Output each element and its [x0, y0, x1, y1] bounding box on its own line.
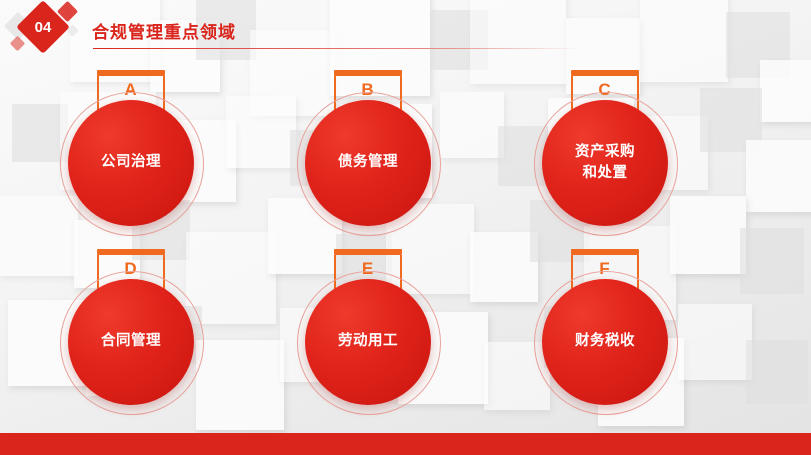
slide-canvas: 04 合规管理重点领域 A 公司治理 B 债务管理 C 资产采购 和处置 [0, 0, 811, 455]
topic-circle[interactable]: 公司治理 [68, 100, 194, 226]
topic-item-a[interactable]: A 公司治理 [46, 70, 216, 260]
topic-item-c[interactable]: C 资产采购 和处置 [520, 70, 690, 260]
topic-item-f[interactable]: F 财务税收 [520, 249, 690, 439]
topic-circle[interactable]: 资产采购 和处置 [542, 100, 668, 226]
topic-label: 资产采购 和处置 [575, 142, 635, 184]
section-number-text: 04 [24, 8, 62, 46]
footer-bar [0, 433, 811, 455]
topic-label: 合同管理 [101, 331, 161, 352]
topic-item-e[interactable]: E 劳动用工 [283, 249, 453, 439]
lamp-cap-icon [334, 249, 402, 255]
lamp-cap-icon [97, 249, 165, 255]
topic-label: 公司治理 [101, 152, 161, 173]
topic-circle[interactable]: 债务管理 [305, 100, 431, 226]
topic-label: 债务管理 [338, 152, 398, 173]
topic-circle[interactable]: 财务税收 [542, 279, 668, 405]
topic-label: 财务税收 [575, 331, 635, 352]
topic-label: 劳动用工 [338, 331, 398, 352]
lamp-cap-icon [334, 70, 402, 76]
page-title: 合规管理重点领域 [92, 18, 236, 43]
decor-diamond-small-bottom-icon [10, 36, 26, 52]
lamp-cap-icon [571, 70, 639, 76]
lamp-cap-icon [97, 70, 165, 76]
topic-item-d[interactable]: D 合同管理 [46, 249, 216, 439]
lamp-cap-icon [571, 249, 639, 255]
topic-circle[interactable]: 合同管理 [68, 279, 194, 405]
section-number-badge: 04 [6, 2, 96, 58]
topic-circle[interactable]: 劳动用工 [305, 279, 431, 405]
title-divider [93, 48, 581, 49]
topic-item-b[interactable]: B 债务管理 [283, 70, 453, 260]
